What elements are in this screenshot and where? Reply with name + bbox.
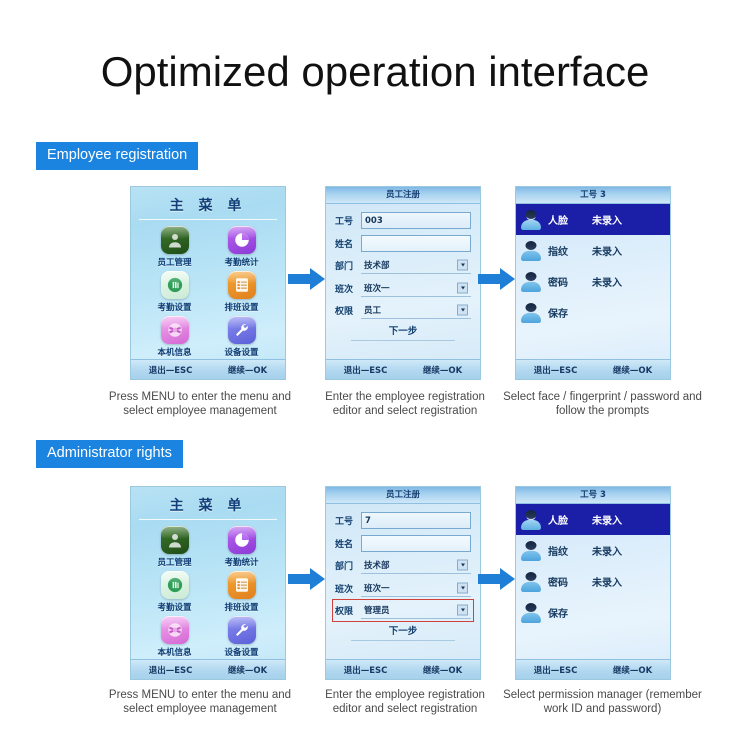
step-caption-2: Enter the employee registration editor a… (315, 390, 495, 418)
person-avatar-icon (520, 302, 542, 324)
device-screen-registration-form: 员工注册 工号 003 姓名 部门 技术部 (325, 186, 481, 380)
step-caption-2: Enter the employee registration editor a… (315, 688, 495, 716)
chevron-down-icon[interactable] (457, 560, 468, 571)
footer-left: 退出—ESC (149, 364, 193, 376)
department-select[interactable]: 技术部 (361, 557, 471, 574)
person-avatar-icon (520, 540, 542, 562)
form-row-permission[interactable]: 权限 管理员 (335, 601, 471, 620)
enrollment-list: 人脸 未录入 指纹 未录入 密码 未录入 (516, 504, 670, 628)
flow-arrow-1 (288, 266, 326, 292)
menu-item-label: 设备设置 (224, 646, 258, 658)
person-avatar-icon (520, 240, 542, 262)
field-label: 班次 (335, 582, 361, 595)
enroll-row-fingerprint[interactable]: 指纹 未录入 (516, 235, 670, 266)
pie-chart-icon (228, 226, 256, 254)
menu-item-employee-management[interactable]: 员工管理 (141, 526, 208, 568)
registration-form: 工号 7 姓名 部门 技术部 (326, 504, 480, 641)
screen-title: 员工注册 (326, 187, 480, 204)
menu-item-device-info[interactable]: 本机信息 (141, 616, 208, 658)
step-caption-3: Select permission manager (remember work… (495, 688, 710, 716)
form-row-department[interactable]: 部门 技术部 (335, 256, 471, 275)
device-screen-enrollment-list: 工号 3 人脸 未录入 指纹 未录入 (515, 486, 671, 680)
footer-left: 退出—ESC (149, 664, 193, 676)
field-label: 工号 (335, 514, 361, 527)
section-tag-employee-registration: Employee registration (36, 142, 198, 170)
person-avatar-icon (520, 209, 542, 231)
field-value: 员工 (364, 304, 381, 316)
section-tag-administrator-rights: Administrator rights (36, 440, 183, 468)
chevron-down-icon[interactable] (457, 582, 468, 593)
footer-right: 继续—OK (423, 364, 462, 376)
footer-left: 退出—ESC (344, 364, 388, 376)
menu-item-label: 考勤设置 (157, 301, 191, 313)
enroll-row-save[interactable]: 保存 (516, 597, 670, 628)
enroll-label: 密码 (548, 274, 582, 289)
step-caption-1: Press MENU to enter the menu and select … (95, 688, 305, 716)
person-avatar-icon (520, 602, 542, 624)
hand-clock-icon (161, 271, 189, 299)
chevron-down-icon[interactable] (457, 260, 468, 271)
menu-item-label: 员工管理 (157, 556, 191, 568)
menu-item-attendance-statistics[interactable]: 考勤统计 (208, 226, 275, 268)
person-avatar-icon (520, 571, 542, 593)
flow-arrow-1 (288, 566, 326, 592)
field-value: 技术部 (364, 559, 390, 571)
enroll-label: 指纹 (548, 543, 582, 558)
screen-footer: 退出—ESC 继续—OK (516, 359, 670, 379)
page-title: Optimized operation interface (0, 48, 750, 96)
form-row-permission[interactable]: 权限 员工 (335, 301, 471, 320)
menu-item-label: 排班设置 (224, 601, 258, 613)
menu-grid: 员工管理 考勤统计 (131, 226, 285, 358)
menu-item-label: 考勤统计 (224, 256, 258, 268)
screen-footer: 退出—ESC 继续—OK (326, 359, 480, 379)
menu-item-label: 员工管理 (157, 256, 191, 268)
device-screen-main-menu: 主 菜 单 员工管理 (130, 486, 286, 680)
menu-item-shift-settings[interactable]: 排班设置 (208, 571, 275, 613)
enroll-status: 未录入 (592, 274, 622, 289)
enroll-row-password[interactable]: 密码 未录入 (516, 566, 670, 597)
enroll-label: 人脸 (548, 512, 582, 527)
device-info-icon (161, 616, 189, 644)
hand-clock-icon (161, 571, 189, 599)
field-value: 003 (365, 216, 383, 226)
name-input[interactable] (361, 235, 471, 252)
employee-id-input[interactable]: 003 (361, 212, 471, 229)
footer-left: 退出—ESC (534, 364, 578, 376)
menu-item-attendance-statistics[interactable]: 考勤统计 (208, 526, 275, 568)
person-avatar-icon (520, 271, 542, 293)
footer-right: 继续—OK (228, 364, 267, 376)
form-row-shift[interactable]: 班次 班次一 (335, 279, 471, 298)
enroll-status: 未录入 (592, 574, 622, 589)
enroll-label: 密码 (548, 574, 582, 589)
screen-title: 员工注册 (326, 487, 480, 504)
footer-right: 继续—OK (228, 664, 267, 676)
chevron-down-icon[interactable] (457, 605, 468, 616)
title-divider (139, 519, 277, 520)
enroll-status: 未录入 (592, 243, 622, 258)
permission-select[interactable]: 管理员 (361, 602, 471, 619)
step-caption-1: Press MENU to enter the menu and select … (95, 390, 305, 418)
form-row-employee-id[interactable]: 工号 7 (335, 511, 471, 530)
field-value: 7 (365, 516, 371, 526)
footer-left: 退出—ESC (344, 664, 388, 676)
screen-footer: 退出—ESC 继续—OK (131, 659, 285, 679)
field-value: 班次一 (364, 282, 390, 294)
page-root: Optimized operation interface Employee r… (0, 0, 750, 750)
enroll-row-face[interactable]: 人脸 未录入 (516, 204, 670, 235)
field-value: 班次一 (364, 582, 390, 594)
flow-arrow-2 (478, 566, 516, 592)
enroll-status: 未录入 (592, 512, 622, 527)
chevron-down-icon[interactable] (457, 282, 468, 293)
field-value: 技术部 (364, 259, 390, 271)
person-icon (161, 526, 189, 554)
menu-item-device-settings[interactable]: 设备设置 (208, 616, 275, 658)
footer-right: 继续—OK (613, 364, 652, 376)
enroll-label: 指纹 (548, 243, 582, 258)
screen-footer: 退出—ESC 继续—OK (326, 659, 480, 679)
screen-title: 工号 3 (516, 487, 670, 504)
enroll-row-fingerprint[interactable]: 指纹 未录入 (516, 535, 670, 566)
employee-id-input[interactable]: 7 (361, 512, 471, 529)
field-value: 管理员 (364, 604, 390, 616)
field-label: 工号 (335, 214, 361, 227)
field-label: 部门 (335, 259, 361, 272)
field-label: 班次 (335, 282, 361, 295)
step-caption-3: Select face / fingerprint / password and… (495, 390, 710, 418)
menu-item-label: 本机信息 (157, 346, 191, 358)
menu-item-device-info[interactable]: 本机信息 (141, 316, 208, 358)
name-input[interactable] (361, 535, 471, 552)
enrollment-list: 人脸 未录入 指纹 未录入 密码 未录入 (516, 204, 670, 328)
form-row-shift[interactable]: 班次 班次一 (335, 579, 471, 598)
pie-chart-icon (228, 526, 256, 554)
shift-select[interactable]: 班次一 (361, 580, 471, 597)
flow-arrow-2 (478, 266, 516, 292)
menu-item-label: 考勤设置 (157, 601, 191, 613)
enroll-label: 保存 (548, 605, 582, 620)
next-step-button[interactable]: 下一步 (351, 324, 455, 341)
footer-right: 继续—OK (613, 664, 652, 676)
menu-item-employee-management[interactable]: 员工管理 (141, 226, 208, 268)
menu-item-label: 本机信息 (157, 646, 191, 658)
wrench-icon (228, 616, 256, 644)
enroll-status: 未录入 (592, 212, 622, 227)
menu-item-attendance-settings[interactable]: 考勤设置 (141, 271, 208, 313)
screen-title: 主 菜 单 (131, 187, 285, 219)
wrench-icon (228, 316, 256, 344)
menu-item-attendance-settings[interactable]: 考勤设置 (141, 571, 208, 613)
device-info-icon (161, 316, 189, 344)
enroll-row-password[interactable]: 密码 未录入 (516, 266, 670, 297)
menu-grid: 员工管理 考勤统计 (131, 526, 285, 658)
field-label: 权限 (335, 604, 361, 617)
form-row-department[interactable]: 部门 技术部 (335, 556, 471, 575)
enroll-label: 保存 (548, 305, 582, 320)
shift-select[interactable]: 班次一 (361, 280, 471, 297)
person-icon (161, 226, 189, 254)
enroll-label: 人脸 (548, 212, 582, 227)
checklist-icon (228, 571, 256, 599)
device-screen-registration-form: 员工注册 工号 7 姓名 部门 技术部 (325, 486, 481, 680)
form-row-employee-id[interactable]: 工号 003 (335, 211, 471, 230)
footer-right: 继续—OK (423, 664, 462, 676)
field-label: 权限 (335, 304, 361, 317)
field-label: 部门 (335, 559, 361, 572)
permission-select[interactable]: 员工 (361, 302, 471, 319)
enroll-row-face[interactable]: 人脸 未录入 (516, 504, 670, 535)
field-label: 姓名 (335, 237, 361, 250)
menu-item-label: 考勤统计 (224, 556, 258, 568)
menu-item-shift-settings[interactable]: 排班设置 (208, 271, 275, 313)
footer-left: 退出—ESC (534, 664, 578, 676)
form-row-name[interactable]: 姓名 (335, 534, 471, 553)
field-label: 姓名 (335, 537, 361, 550)
title-divider (139, 219, 277, 220)
screen-footer: 退出—ESC 继续—OK (131, 359, 285, 379)
menu-item-device-settings[interactable]: 设备设置 (208, 316, 275, 358)
person-avatar-icon (520, 509, 542, 531)
screen-title: 工号 3 (516, 187, 670, 204)
department-select[interactable]: 技术部 (361, 257, 471, 274)
menu-item-label: 设备设置 (224, 346, 258, 358)
screen-footer: 退出—ESC 继续—OK (516, 659, 670, 679)
form-row-name[interactable]: 姓名 (335, 234, 471, 253)
screen-title: 主 菜 单 (131, 487, 285, 519)
enroll-status: 未录入 (592, 543, 622, 558)
checklist-icon (228, 271, 256, 299)
enroll-row-save[interactable]: 保存 (516, 297, 670, 328)
registration-form: 工号 003 姓名 部门 技术部 (326, 204, 480, 341)
chevron-down-icon[interactable] (457, 305, 468, 316)
next-step-button[interactable]: 下一步 (351, 624, 455, 641)
device-screen-main-menu: 主 菜 单 员工管理 (130, 186, 286, 380)
menu-item-label: 排班设置 (224, 301, 258, 313)
device-screen-enrollment-list: 工号 3 人脸 未录入 指纹 未录入 (515, 186, 671, 380)
